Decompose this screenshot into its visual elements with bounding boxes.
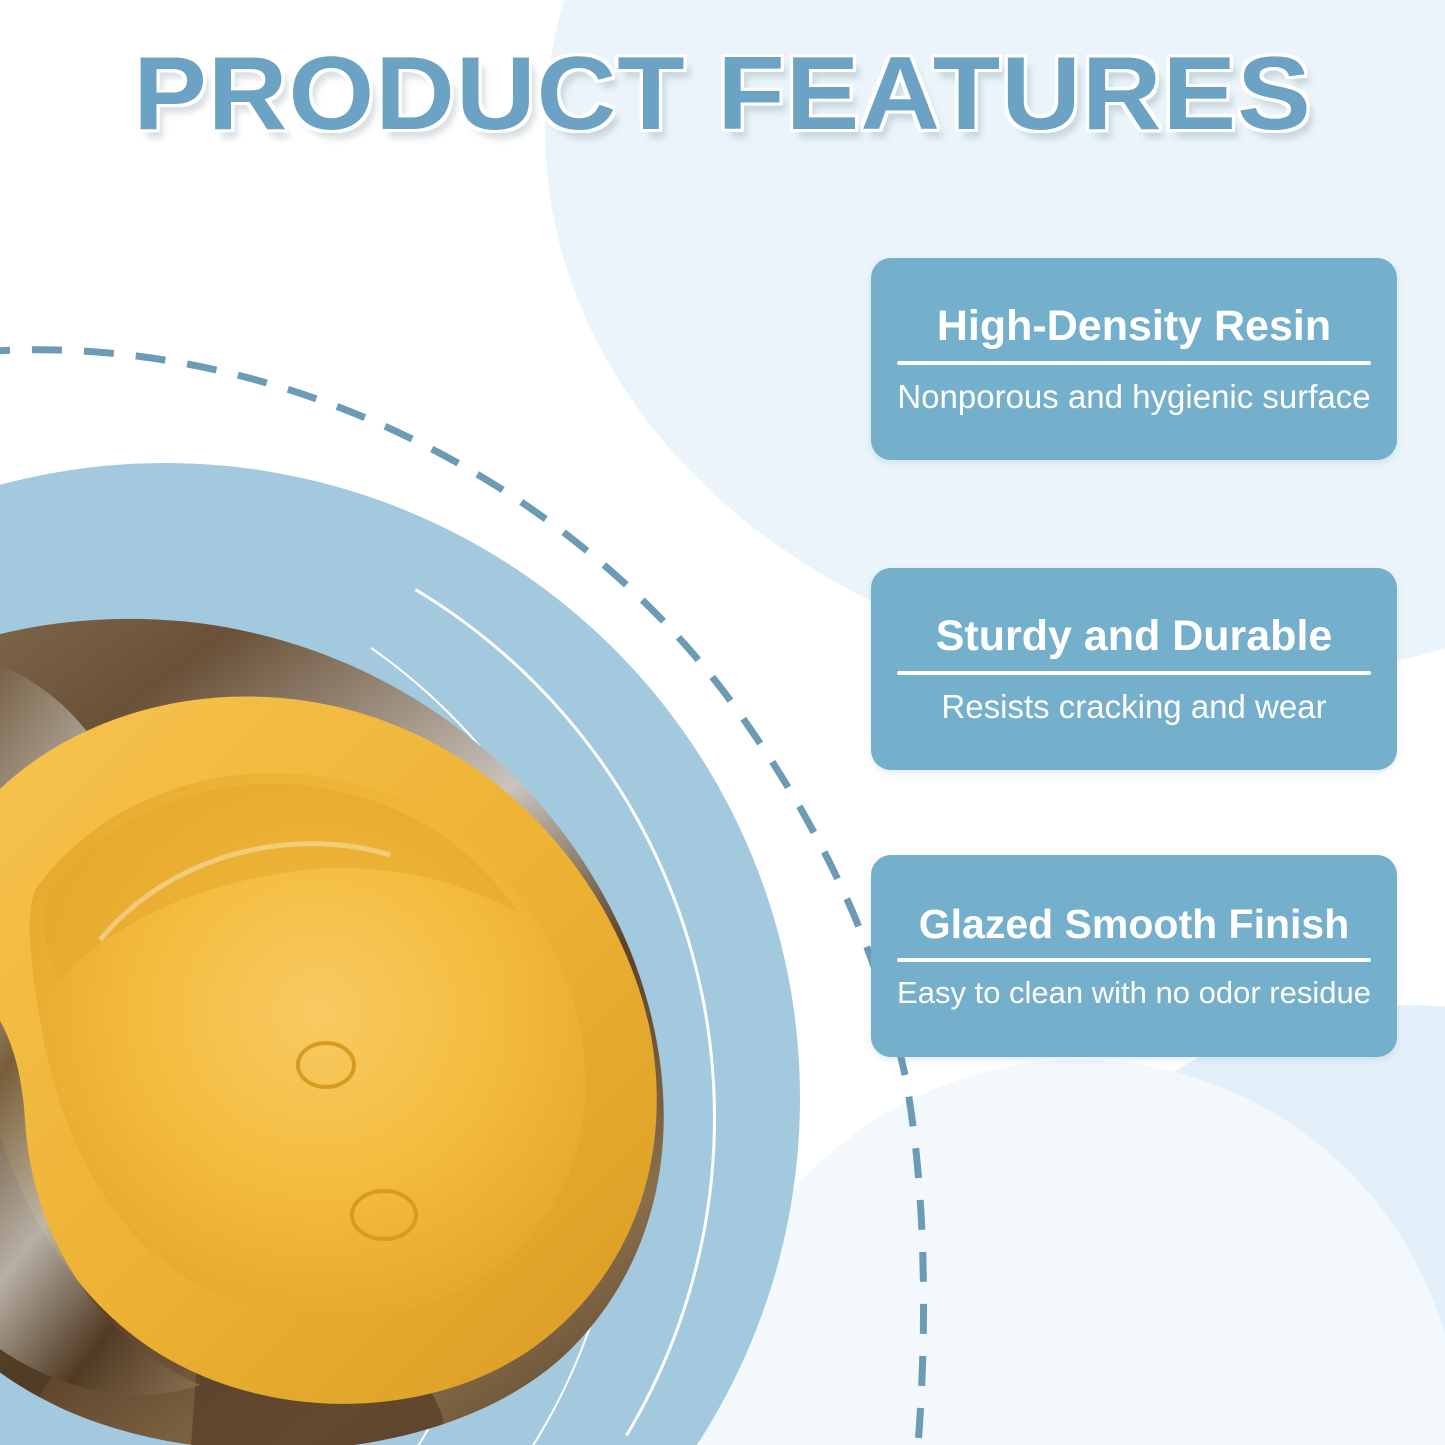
feature-card-high-density-resin[interactable]: High-Density Resin Nonporous and hygieni…: [871, 258, 1397, 460]
page-title: PRODUCT FEATURES: [0, 42, 1445, 146]
feature-card-divider: [897, 958, 1371, 962]
feature-card-divider: [897, 361, 1371, 365]
feature-card-subtitle: Resists cracking and wear: [897, 689, 1371, 725]
feature-card-divider: [897, 671, 1371, 675]
product-image: [0, 560, 790, 1445]
feature-card-subtitle: Easy to clean with no odor residue: [897, 976, 1371, 1010]
feature-card-title: Glazed Smooth Finish: [897, 902, 1371, 946]
feature-card-title: High-Density Resin: [897, 303, 1371, 349]
product-bowl-illustration: [0, 560, 790, 1445]
infographic-canvas: PRODUCT FEATURES High-Density Resin Nonp…: [0, 0, 1445, 1445]
feature-card-sturdy-and-durable[interactable]: Sturdy and Durable Resists cracking and …: [871, 568, 1397, 770]
feature-card-title: Sturdy and Durable: [897, 613, 1371, 659]
feature-card-glazed-smooth-finish[interactable]: Glazed Smooth Finish Easy to clean with …: [871, 855, 1397, 1057]
feature-card-subtitle: Nonporous and hygienic surface: [897, 379, 1371, 415]
